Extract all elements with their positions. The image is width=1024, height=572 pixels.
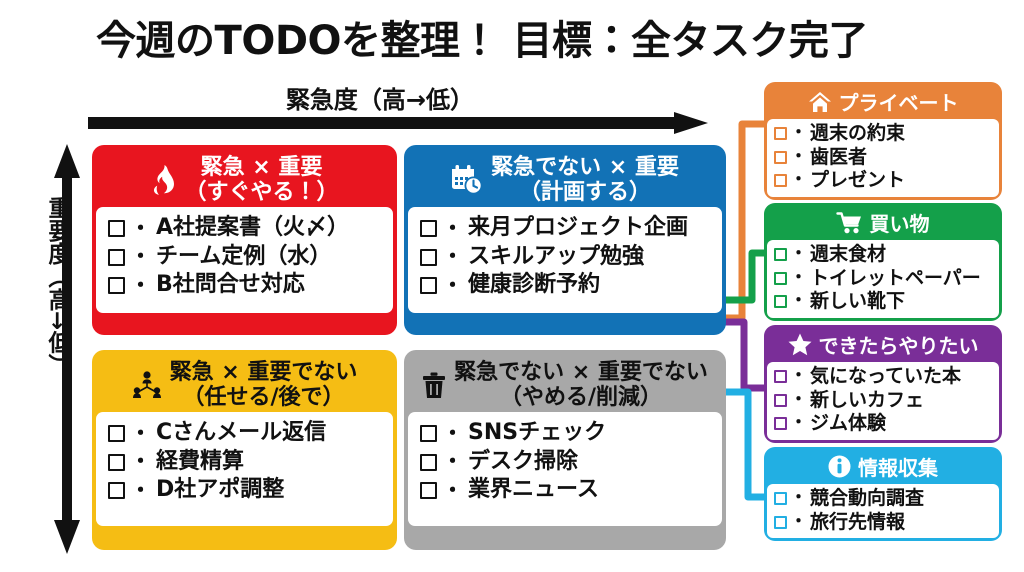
task-label: 業界ニュース [468,476,599,505]
flame-icon [150,165,176,195]
item-label: 競合動向調査 [810,487,924,511]
list-item[interactable]: ・ 週末の約束 [774,122,993,146]
checkbox-icon[interactable] [420,277,437,294]
bullet: ・ [442,420,463,447]
bullet: ・ [790,123,807,144]
card-list: ・ 週末食材 ・ トイレットペーパー ・ 新しい靴下 [767,240,999,318]
checkbox-icon[interactable] [108,220,125,237]
task-label: A社提案書（火〆） [156,214,349,243]
checkbox-icon[interactable] [774,417,787,430]
task-row[interactable]: ・ 経費精算 [108,448,383,477]
item-label: 新しいカフェ [810,389,924,413]
home-icon [808,91,832,113]
list-item[interactable]: ・ 新しいカフェ [774,389,993,413]
card-title: できたらやりたい [819,330,979,359]
task-row[interactable]: ・ B社問合せ対応 [108,271,383,300]
task-list: ・ SNSチェック ・ デスク掃除 ・ 業界ニュース [408,412,722,526]
checkbox-icon[interactable] [774,174,787,187]
quadrant-header: 緊急でない × 重要 （計画する） [408,149,722,207]
task-label: スキルアップ勉強 [468,243,644,272]
bullet: ・ [790,291,807,312]
checkbox-icon[interactable] [108,482,125,499]
quadrant-urgent-important[interactable]: 緊急 × 重要 （すぐやる！） ・ A社提案書（火〆） ・ チーム定例（水） ・… [92,145,397,335]
task-row[interactable]: ・ 健康診断予約 [420,271,712,300]
task-label: SNSチェック [468,419,606,448]
list-item[interactable]: ・ 新しい靴下 [774,290,993,314]
x-axis-arrow-icon [88,112,708,134]
task-row[interactable]: ・ 業界ニュース [420,476,712,505]
bullet: ・ [130,215,151,242]
bullet: ・ [790,512,807,533]
x-axis-label: 緊急度（高→低） [170,80,590,115]
task-row[interactable]: ・ スキルアップ勉強 [420,243,712,272]
task-row[interactable]: ・ デスク掃除 [420,448,712,477]
list-item[interactable]: ・ プレゼント [774,169,993,193]
checkbox-icon[interactable] [108,277,125,294]
checkbox-icon[interactable] [774,394,787,407]
bullet: ・ [130,272,151,299]
card-info-gathering[interactable]: 情報収集 ・ 競合動向調査 ・ 旅行先情報 [764,447,1002,541]
trash-icon [422,372,446,399]
bullet: ・ [442,272,463,299]
task-row[interactable]: ・ A社提案書（火〆） [108,214,383,243]
card-title: プライベート [839,87,959,116]
item-label: プレゼント [810,169,905,193]
checkbox-icon[interactable] [420,454,437,471]
bullet: ・ [130,420,151,447]
checkbox-icon[interactable] [774,272,787,285]
checkbox-icon[interactable] [774,248,787,261]
task-row[interactable]: ・ Cさんメール返信 [108,419,383,448]
item-label: 旅行先情報 [810,511,905,535]
checkbox-icon[interactable] [420,249,437,266]
checkbox-icon[interactable] [108,249,125,266]
card-list: ・ 競合動向調査 ・ 旅行先情報 [767,484,999,538]
checkbox-icon[interactable] [774,492,787,505]
list-item[interactable]: ・ 週末食材 [774,243,993,267]
card-header: できたらやりたい [767,328,999,362]
item-label: トイレットペーパー [810,267,981,291]
card-list: ・ 週末の約束 ・ 歯医者 ・ プレゼント [767,119,999,197]
task-label: Cさんメール返信 [156,419,326,448]
task-row[interactable]: ・ D社アポ調整 [108,476,383,505]
card-shopping[interactable]: 買い物 ・ 週末食材 ・ トイレットペーパー ・ 新しい靴下 [764,203,1002,321]
quadrant-urgent-not-important[interactable]: 緊急 × 重要でない （任せる/後で） ・ Cさんメール返信 ・ 経費精算 ・ … [92,350,397,550]
checkbox-icon[interactable] [774,370,787,383]
task-label: チーム定例（水） [156,243,331,272]
card-private[interactable]: プライベート ・ 週末の約束 ・ 歯医者 ・ プレゼント [764,82,1002,200]
bullet: ・ [790,413,807,434]
task-label: 来月プロジェクト企画 [468,214,688,243]
list-item[interactable]: ・ 旅行先情報 [774,511,993,535]
list-item[interactable]: ・ 競合動向調査 [774,487,993,511]
item-label: 週末食材 [810,243,886,267]
bullet: ・ [130,243,151,270]
bullet: ・ [442,448,463,475]
bullet: ・ [790,488,807,509]
checkbox-icon[interactable] [420,482,437,499]
item-label: 気になっていた本 [810,365,961,389]
task-row[interactable]: ・ SNSチェック [420,419,712,448]
bullet: ・ [790,390,807,411]
checkbox-icon[interactable] [774,127,787,140]
task-label: D社アポ調整 [156,476,284,505]
card-header: 情報収集 [767,450,999,484]
quadrant-title: 緊急 × 重要でない （任せる/後で） [170,360,358,410]
card-title: 情報収集 [858,452,938,481]
task-label: 経費精算 [156,448,244,477]
y-axis-arrow-icon [54,144,80,554]
bullet: ・ [442,215,463,242]
quadrant-header: 緊急 × 重要 （すぐやる！） [96,149,393,207]
checkbox-icon[interactable] [774,295,787,308]
delegate-people-icon [132,371,162,399]
bullet: ・ [130,448,151,475]
task-label: 健康診断予約 [468,271,600,300]
eisenhower-matrix-canvas: 今週のTODOを整理！ 目標：全タスク完了 緊急度（高→低） 重要度（高→低） [0,0,1024,572]
list-item[interactable]: ・ トイレットペーパー [774,267,993,291]
card-header: 買い物 [767,206,999,240]
quadrant-title: 緊急 × 重要 （すぐやる！） [184,155,338,205]
quadrant-header: 緊急 × 重要でない （任せる/後で） [96,354,393,412]
quadrant-title: 緊急でない × 重要 （計画する） [491,155,679,205]
item-label: 週末の約束 [810,122,905,146]
task-label: B社問合せ対応 [156,271,305,300]
task-row[interactable]: ・ チーム定例（水） [108,243,383,272]
shopping-cart-icon [837,212,863,234]
bullet: ・ [790,268,807,289]
quadrant-not-urgent-not-important[interactable]: 緊急でない × 重要でない （やめる/削減） ・ SNSチェック ・ デスク掃除… [404,350,726,550]
card-title: 買い物 [870,208,930,237]
card-wishlist[interactable]: できたらやりたい ・ 気になっていた本 ・ 新しいカフェ ・ ジム体験 [764,325,1002,443]
card-list: ・ 気になっていた本 ・ 新しいカフェ ・ ジム体験 [767,362,999,440]
bullet: ・ [790,147,807,168]
list-item[interactable]: ・ 気になっていた本 [774,365,993,389]
list-item[interactable]: ・ 歯医者 [774,146,993,170]
page-title: 今週のTODOを整理！ 目標：全タスク完了 [0,8,1024,66]
calendar-clock-icon [451,165,483,195]
task-list: ・ A社提案書（火〆） ・ チーム定例（水） ・ B社問合せ対応 [96,207,393,313]
task-row[interactable]: ・ 来月プロジェクト企画 [420,214,712,243]
list-item[interactable]: ・ ジム体験 [774,412,993,436]
checkbox-icon[interactable] [420,425,437,442]
task-list: ・ 来月プロジェクト企画 ・ スキルアップ勉強 ・ 健康診断予約 [408,207,722,313]
star-icon [788,333,812,356]
bullet: ・ [130,477,151,504]
checkbox-icon[interactable] [774,151,787,164]
bullet: ・ [442,477,463,504]
checkbox-icon[interactable] [774,516,787,529]
item-label: 歯医者 [810,146,867,170]
info-icon [828,455,851,478]
quadrant-not-urgent-important[interactable]: 緊急でない × 重要 （計画する） ・ 来月プロジェクト企画 ・ スキルアップ勉… [404,145,726,335]
bullet: ・ [790,170,807,191]
bullet: ・ [442,243,463,270]
bullet: ・ [790,366,807,387]
checkbox-icon[interactable] [108,454,125,471]
task-list: ・ Cさんメール返信 ・ 経費精算 ・ D社アポ調整 [96,412,393,526]
item-label: 新しい靴下 [810,290,905,314]
item-label: ジム体験 [810,412,886,436]
card-header: プライベート [767,85,999,119]
checkbox-icon[interactable] [420,220,437,237]
checkbox-icon[interactable] [108,425,125,442]
quadrant-title: 緊急でない × 重要でない （やめる/削減） [454,360,708,410]
task-label: デスク掃除 [468,448,578,477]
quadrant-header: 緊急でない × 重要でない （やめる/削減） [408,354,722,412]
bullet: ・ [790,244,807,265]
